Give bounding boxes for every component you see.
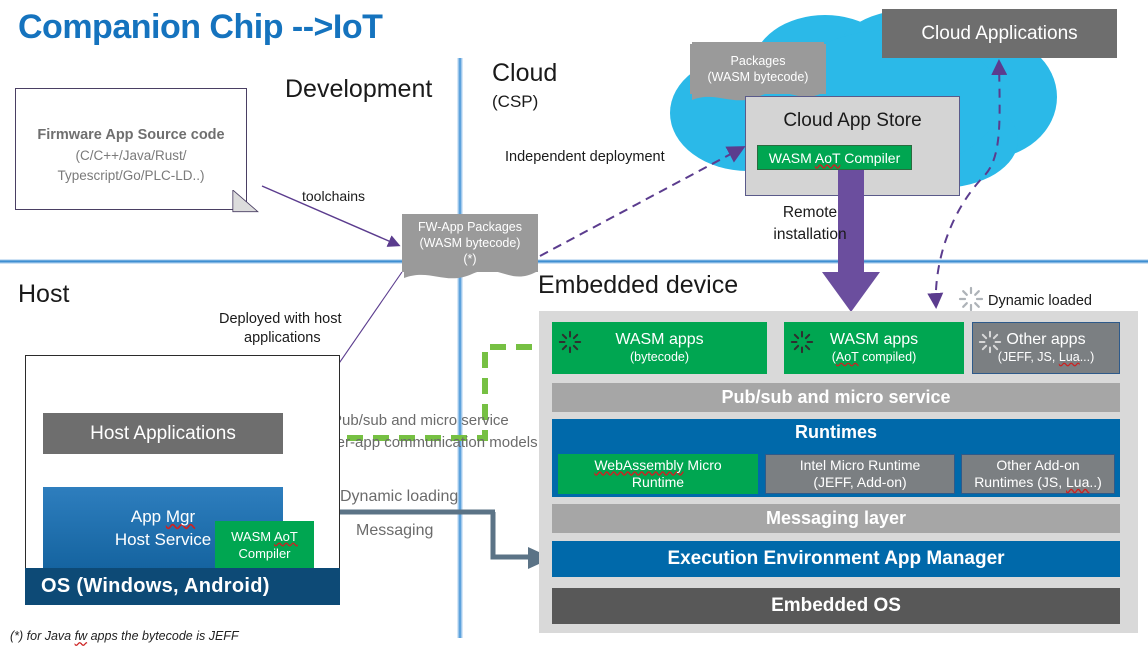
cloud-wasm-aot-compiler[interactable]: WASM AoT Compiler <box>757 145 912 170</box>
cloud-pkg-line2: (WASM bytecode) <box>708 69 809 85</box>
embedded-pubsub-bar: Pub/sub and micro service <box>552 383 1120 412</box>
firmware-heading: Firmware App Source code <box>37 125 224 147</box>
dynamic-loaded-spinner-icon <box>958 286 984 312</box>
embedded-app-1-sub: (AoT compiled) <box>832 350 917 365</box>
label-messaging: Messaging <box>356 521 433 542</box>
spinner-icon-app-1 <box>790 330 814 354</box>
label-dynamic-loaded: Dynamic loaded <box>988 292 1092 311</box>
footnote: (*) for Java fw apps the bytecode is JEF… <box>10 629 239 643</box>
label-pubsub-line1: Pub/sub and micro service <box>332 411 509 431</box>
embedded-runtimes-bar: Runtimes <box>552 420 1120 445</box>
runtime-1-line1: Intel Micro Runtime <box>800 457 921 475</box>
runtime-0-line2: Runtime <box>594 474 721 492</box>
cloud-pkg-line1: Packages <box>731 53 786 69</box>
host-wasm-aot-compiler[interactable]: WASM AoT Compiler <box>215 521 314 570</box>
cloud-packages-label: Packages (WASM bytecode) <box>690 44 826 94</box>
section-label-development: Development <box>285 76 432 102</box>
runtime-2-line1: Other Add-on <box>974 457 1102 475</box>
page-title: Companion Chip -->IoT <box>18 2 658 52</box>
horizontal-divider <box>0 259 1148 264</box>
fw-pkg-line2: (WASM bytecode) <box>420 235 521 251</box>
embedded-app-manager-bar: Execution Environment App Manager <box>552 541 1120 577</box>
label-independent-deployment: Independent deployment <box>505 148 665 167</box>
firmware-source-box: Firmware App Source code (C/C++/Java/Rus… <box>15 88 247 210</box>
firmware-line2: (C/C++/Java/Rust/ <box>37 146 224 166</box>
label-remote-installation-line1: Remote <box>774 203 846 223</box>
embedded-runtime-1: Intel Micro Runtime (JEFF, Add-on) <box>765 454 955 494</box>
section-label-host: Host <box>18 281 69 307</box>
embedded-app-2-name: Other apps <box>1006 331 1085 349</box>
firmware-line3: Typescript/Go/PLC-LD..) <box>37 166 224 186</box>
callout-tail-icon <box>232 190 262 215</box>
fw-app-packages-label: FW-App Packages (WASM bytecode) (*) <box>402 214 538 272</box>
fw-pkg-line3: (*) <box>463 251 476 267</box>
runtime-0-line1: WebAssembly Micro <box>594 457 721 475</box>
embedded-app-0-name: WASM apps <box>615 331 703 349</box>
cloud-applications-box: Cloud Applications <box>882 9 1117 58</box>
embedded-app-tile-0: WASM apps (bytecode) <box>552 322 767 374</box>
spinner-icon-app-2 <box>978 330 1002 354</box>
label-toolchains: toolchains <box>302 187 365 205</box>
embedded-app-0-sub: (bytecode) <box>630 350 689 365</box>
embedded-app-1-name: WASM apps <box>830 331 918 349</box>
embedded-os-bar: Embedded OS <box>552 588 1120 624</box>
app-mgr-line1: App Mgr <box>131 506 195 529</box>
spinner-icon-app-0 <box>558 330 582 354</box>
runtime-2-line2: Runtimes (JS, Lua..) <box>974 474 1102 492</box>
embedded-runtime-2: Other Add-on Runtimes (JS, Lua..) <box>961 454 1115 494</box>
cloud-aot-label: WASM AoT Compiler <box>769 150 901 166</box>
host-aot-line2: Compiler <box>238 546 290 563</box>
embedded-runtime-0: WebAssembly Micro Runtime <box>558 454 758 494</box>
section-label-cloud-sub: (CSP) <box>492 92 538 112</box>
label-remote-installation-line2: installation <box>760 225 860 245</box>
section-label-embedded-device: Embedded device <box>538 272 738 298</box>
label-pubsub-line2: Inter-app communication models <box>320 433 538 453</box>
label-deployed-line2: applications <box>244 329 321 348</box>
cloud-app-store-title: Cloud App Store <box>745 110 960 132</box>
label-deployed-line1: Deployed with host <box>219 310 342 329</box>
label-dynamic-loading: Dynamic loading <box>340 487 458 508</box>
vertical-divider <box>457 58 463 638</box>
app-mgr-line2: Host Service <box>115 529 211 552</box>
embedded-messaging-bar: Messaging layer <box>552 504 1120 533</box>
runtime-1-line2: (JEFF, Add-on) <box>800 474 921 492</box>
fw-pkg-line1: FW-App Packages <box>418 219 522 235</box>
host-aot-line1: WASM AoT <box>231 529 298 546</box>
host-os-bar: OS (Windows, Android) <box>25 568 340 605</box>
embedded-app-2-sub: (JEFF, JS, Lua...) <box>998 350 1095 365</box>
messaging-connector <box>493 512 528 557</box>
section-label-cloud: Cloud <box>492 60 557 86</box>
host-applications-box: Host Applications <box>43 413 283 454</box>
